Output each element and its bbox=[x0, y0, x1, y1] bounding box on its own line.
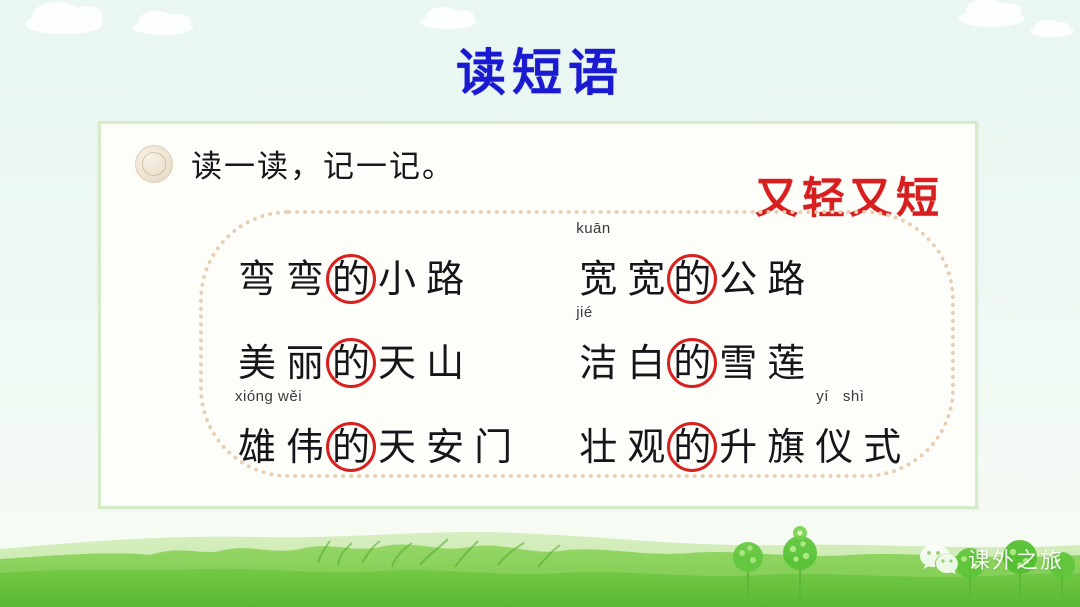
content-panel: 读一读，记一记。 又轻又短 弯弯的小路宽宽的公路kuān美丽的天山洁白的雪莲ji… bbox=[98, 121, 978, 509]
circled-character: 的 bbox=[329, 428, 373, 466]
phrase-right: 壮观的升旗仪式yí shì bbox=[542, 392, 949, 476]
watermark: 课外之旅 bbox=[919, 543, 1064, 575]
pinyin-label: yí shì bbox=[816, 388, 864, 405]
circled-character: 的 bbox=[670, 428, 714, 466]
character: 宽 bbox=[622, 260, 670, 298]
circled-character: 的 bbox=[670, 344, 714, 382]
panel-heading: 读一读，记一记。 bbox=[135, 141, 455, 186]
pinyin-label: jié bbox=[576, 304, 593, 321]
watermark-text: 课外之旅 bbox=[968, 543, 1064, 575]
page-title: 读短语 bbox=[0, 33, 1080, 105]
pinyin-label: kuān bbox=[576, 220, 611, 237]
character: 美 bbox=[233, 344, 281, 382]
circled-character: 的 bbox=[329, 344, 373, 382]
wechat-icon bbox=[919, 543, 959, 575]
heading-text: 读一读，记一记。 bbox=[191, 141, 455, 186]
coin-icon bbox=[135, 145, 173, 183]
character: 莲 bbox=[762, 344, 810, 382]
character: 仪 bbox=[810, 428, 858, 466]
phrase-right: 宽宽的公路kuān bbox=[542, 224, 949, 308]
character: 路 bbox=[421, 260, 469, 298]
phrase-left: 弯弯的小路 bbox=[219, 224, 542, 308]
character: 白 bbox=[622, 344, 670, 382]
slide-canvas: 读短语 读一读，记一记。 又轻又短 弯弯的小路宽宽的公路kuān美丽的天山洁白的… bbox=[0, 0, 1080, 607]
character: 升 bbox=[714, 428, 762, 466]
cloud-icon bbox=[420, 15, 476, 29]
cloud-icon bbox=[25, 14, 103, 34]
phrase-left: 雄伟的天安门xióng wěi bbox=[219, 392, 542, 476]
circled-character: 的 bbox=[670, 260, 714, 298]
character: 路 bbox=[762, 260, 810, 298]
character: 小 bbox=[373, 260, 421, 298]
character: 旗 bbox=[762, 428, 810, 466]
character: 壮 bbox=[574, 428, 622, 466]
cloud-icon bbox=[958, 10, 1024, 27]
pinyin-label: xióng wěi bbox=[235, 388, 302, 405]
phrase-row: 美丽的天山洁白的雪莲jié bbox=[219, 308, 949, 392]
character: 宽 bbox=[574, 260, 622, 298]
character: 弯 bbox=[233, 260, 281, 298]
circled-character: 的 bbox=[329, 260, 373, 298]
phrase-grid: 弯弯的小路宽宽的公路kuān美丽的天山洁白的雪莲jié雄伟的天安门xióng w… bbox=[219, 224, 949, 474]
character: 弯 bbox=[281, 260, 329, 298]
phrase-row: 雄伟的天安门xióng wěi壮观的升旗仪式yí shì bbox=[219, 392, 949, 476]
character: 丽 bbox=[281, 344, 329, 382]
character: 雪 bbox=[714, 344, 762, 382]
character: 伟 bbox=[281, 428, 329, 466]
character: 门 bbox=[469, 428, 517, 466]
character: 公 bbox=[714, 260, 762, 298]
character: 观 bbox=[622, 428, 670, 466]
character: 洁 bbox=[574, 344, 622, 382]
character: 天 bbox=[373, 428, 421, 466]
character: 山 bbox=[421, 344, 469, 382]
phrase-row: 弯弯的小路宽宽的公路kuān bbox=[219, 224, 949, 308]
character: 式 bbox=[858, 428, 906, 466]
character: 安 bbox=[421, 428, 469, 466]
character: 天 bbox=[373, 344, 421, 382]
phrase-left: 美丽的天山 bbox=[219, 308, 542, 392]
character: 雄 bbox=[233, 428, 281, 466]
phrase-right: 洁白的雪莲jié bbox=[542, 308, 949, 392]
